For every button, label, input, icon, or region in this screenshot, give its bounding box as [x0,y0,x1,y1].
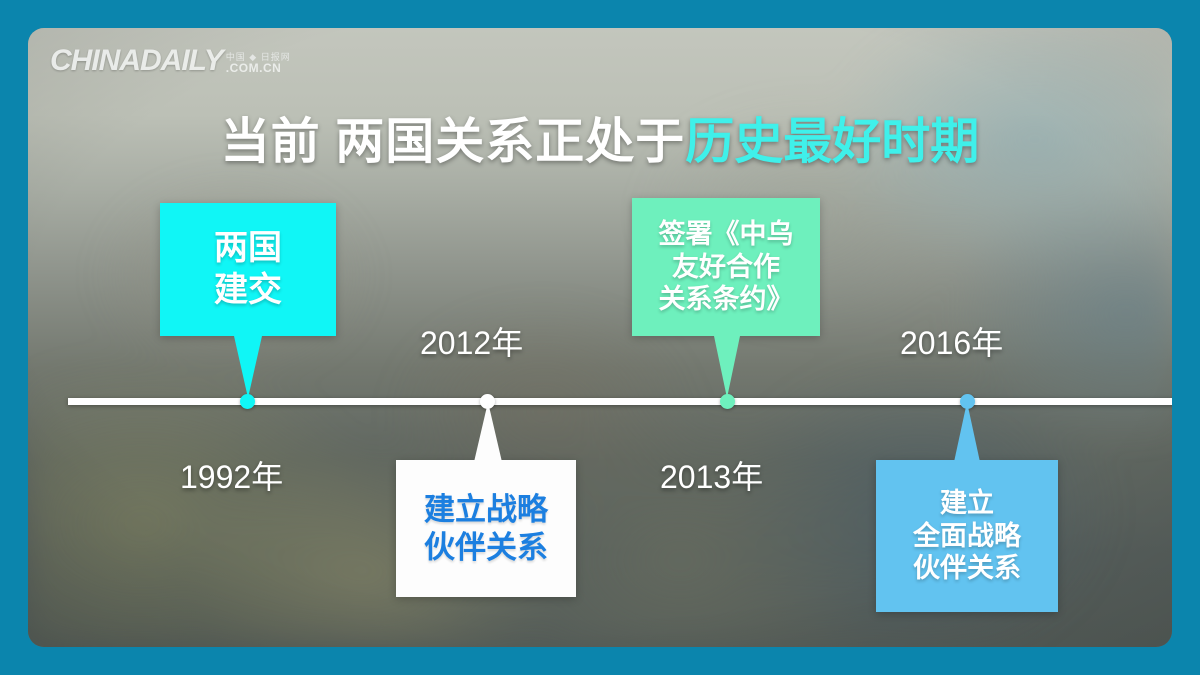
logo-wordmark: CHINADAILY [50,46,223,76]
timeline-card-1992[interactable]: 两国 建交 [160,203,336,336]
timeline-card-2012-tail [474,402,502,462]
timeline-axis [68,398,1172,405]
background-photo-panel: CHINADAILY 中国 ◆ 日报网 .COM.CN 当前 两国关系正处于历史… [28,28,1172,647]
timeline-card-2012-line-2: 伙伴关系 [424,529,548,567]
timeline-card-2012[interactable]: 建立战略 伙伴关系 [396,460,576,597]
timeline-card-2016-line-3: 伙伴关系 [913,552,1021,585]
timeline-card-1992-tail [234,336,262,398]
year-label-2012: 2012年 [420,318,523,364]
timeline-card-2016-tail [954,402,980,462]
chinadaily-logo: CHINADAILY 中国 ◆ 日报网 .COM.CN [50,46,291,76]
timeline-card-2016-line-2: 全面战略 [913,520,1021,553]
year-label-2013: 2013年 [660,452,763,498]
timeline-card-2013[interactable]: 签署《中乌 友好合作 关系条约》 [632,198,820,336]
timeline-card-2013-line-3: 关系条约》 [659,283,794,316]
timeline-card-2013-tail [714,336,740,398]
page-title: 当前 两国关系正处于历史最好时期 [28,118,1172,167]
page-title-accent: 历史最好时期 [685,115,979,169]
timeline-card-2013-line-2: 友好合作 [672,251,780,284]
timeline-card-2016-line-1: 建立 [940,487,994,520]
page-title-prefix: 当前 两国关系正处于 [221,115,686,169]
year-label-2016: 2016年 [900,318,1003,364]
timeline-card-1992-line-2: 建交 [214,270,282,311]
timeline-card-1992-line-1: 两国 [214,228,282,269]
logo-secondary: 中国 ◆ 日报网 .COM.CN [226,53,291,75]
timeline-card-2016[interactable]: 建立 全面战略 伙伴关系 [876,460,1058,612]
infographic-poster: CHINADAILY 中国 ◆ 日报网 .COM.CN 当前 两国关系正处于历史… [0,0,1200,675]
timeline-card-2013-line-1: 签署《中乌 [659,218,794,251]
logo-domain: .COM.CN [226,62,282,75]
year-label-1992: 1992年 [180,452,283,498]
timeline-card-2012-line-1: 建立战略 [424,491,548,529]
